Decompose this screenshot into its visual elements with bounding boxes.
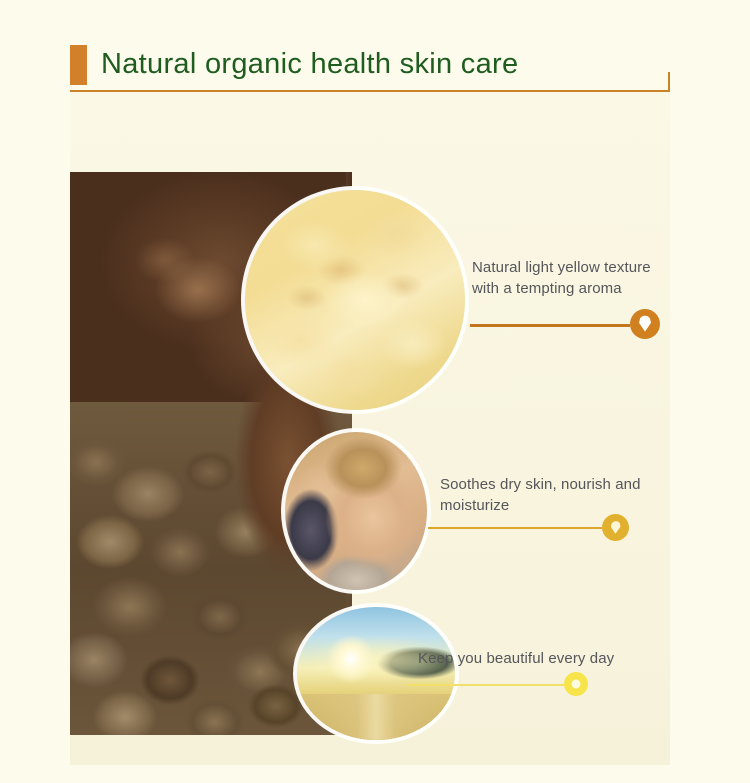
circle-image-shea-butter-texture	[245, 190, 465, 410]
location-pin-icon	[639, 316, 651, 332]
circle-image-woman-soothing-skin	[285, 432, 427, 590]
callout-text-3: Keep you beautiful every day	[418, 648, 648, 669]
callout-text-1: Natural light yellow texture with a temp…	[472, 257, 672, 299]
circle-image-sunrise-landscape	[297, 607, 455, 740]
callout-marker-3[interactable]	[564, 672, 588, 696]
page-root: Natural organic health skin care Natural…	[0, 0, 750, 783]
callout-line-3	[408, 684, 566, 686]
callout-text-2: Soothes dry skin, nourish and moisturize	[440, 474, 655, 516]
header-divider-end-tick	[668, 72, 670, 92]
callout-line-1	[470, 324, 630, 327]
page-title: Natural organic health skin care	[101, 40, 518, 88]
sunrise-field-path	[297, 694, 455, 740]
callout-line-2	[428, 527, 603, 529]
callout-marker-2[interactable]	[602, 514, 629, 541]
header-accent-bar	[70, 45, 87, 85]
dot-icon	[572, 680, 581, 689]
callout-marker-1[interactable]	[630, 309, 660, 339]
shea-butter-texture-fill	[245, 190, 465, 410]
woman-soothing-skin-fill	[285, 432, 427, 590]
location-pin-icon	[611, 521, 621, 534]
page-header: Natural organic health skin care	[0, 0, 750, 92]
